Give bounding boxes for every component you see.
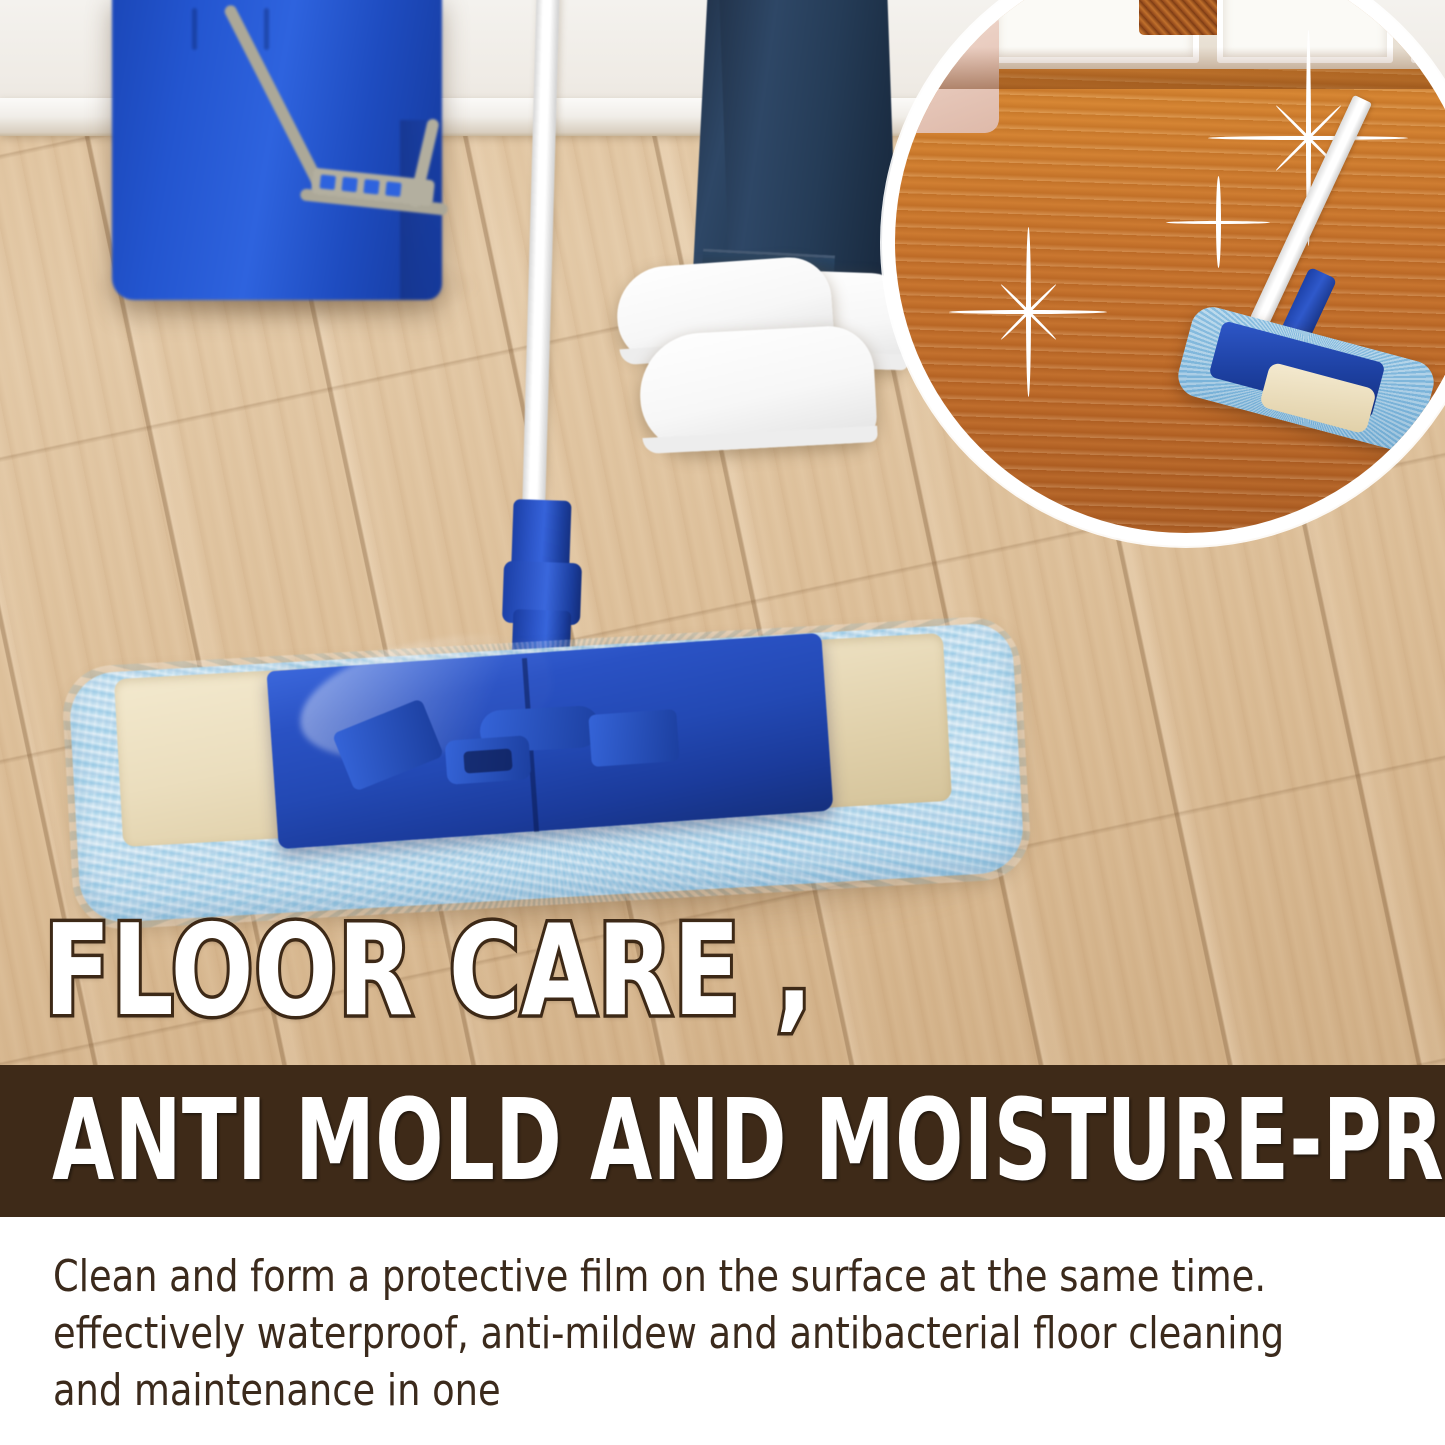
mop-head [60, 622, 1050, 922]
headline-line-2: ANTI MOLD AND MOISTURE-PROOF [52, 1085, 1445, 1197]
body-line-1: Clean and form a protective film on the … [53, 1248, 1318, 1305]
mop-pole [522, 0, 560, 514]
mop-clamp-right [588, 709, 679, 767]
sparkle-icon-small [1217, 221, 1219, 223]
inset-floor-shade [895, 47, 1445, 89]
headline-line-1: FLOOR CARE , [44, 908, 814, 1034]
sparkle-icon-top [1307, 137, 1309, 139]
mop-clamp-slot [463, 748, 512, 773]
inset-amber-floor [895, 0, 1445, 533]
mop-bucket [112, 0, 442, 300]
body-line-2: effectively waterproof, anti-mildew and … [53, 1305, 1318, 1362]
shoe-front [637, 324, 878, 454]
body-copy: Clean and form a protective film on the … [53, 1248, 1318, 1420]
inset-blue-box [1419, 0, 1445, 27]
product-banner: FLOOR CARE , ANTI MOLD AND MOISTURE-PROO… [0, 0, 1445, 1445]
body-line-3: and maintenance in one [53, 1362, 1318, 1419]
sparkle-icon-left [1027, 311, 1029, 313]
